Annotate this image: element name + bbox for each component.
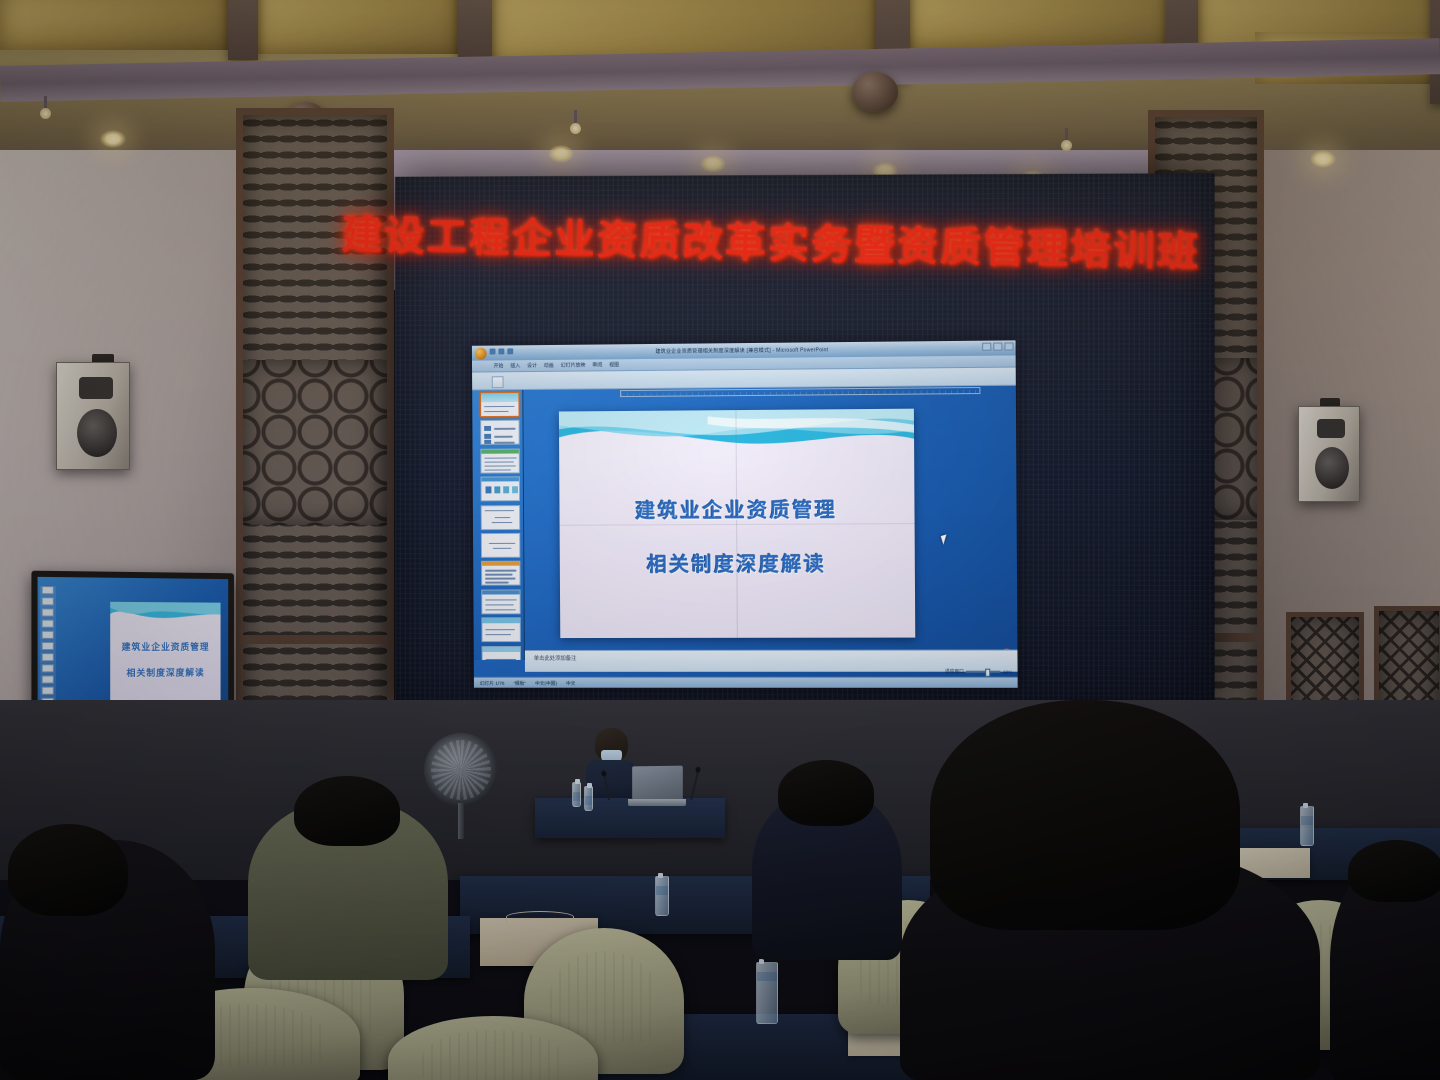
attendee-hair: [294, 776, 400, 846]
tab-slideshow[interactable]: 幻灯片放映: [561, 362, 586, 369]
led-banner-text: 建设工程企业资质改革实务暨资质管理培训班: [341, 201, 1201, 278]
tab-view[interactable]: 视图: [609, 361, 619, 368]
status-slide-count: 幻灯片 1/76: [480, 679, 505, 686]
tab-animation[interactable]: 动画: [544, 362, 554, 369]
water-bottle: [1300, 806, 1314, 846]
wall-speaker-right: [1298, 406, 1360, 502]
slide-thumbnail[interactable]: [482, 646, 521, 660]
tab-review[interactable]: 审阅: [592, 361, 602, 368]
water-bottle: [584, 786, 593, 811]
slide-thumbnail[interactable]: [480, 420, 519, 445]
slide-thumbnail[interactable]: [481, 589, 520, 614]
tab-start[interactable]: 开始: [494, 362, 504, 369]
mouse-cursor: [941, 534, 949, 544]
status-language: 中文(中国): [535, 679, 557, 686]
tab-insert[interactable]: 插入: [510, 362, 520, 369]
notes-pane[interactable]: 单击此处添加备注: [525, 650, 1018, 672]
powerpoint-window[interactable]: 建筑业企业资质管理相关制度深度解读 [兼容模式] - Microsoft Pow…: [472, 340, 1018, 687]
ceiling-downlight: [1310, 150, 1336, 168]
conference-room-photo: 建设工程企业资质改革实务暨资质管理培训班 建筑业企业资质管理相关制度深度解读 […: [0, 0, 1440, 1080]
fit-window-label[interactable]: 适应窗口: [945, 669, 964, 675]
monitor-line1: 建筑业企业资质管理: [110, 640, 220, 653]
zoom-control[interactable]: 适应窗口 66%: [945, 669, 1012, 675]
quick-access-toolbar[interactable]: [490, 348, 514, 354]
wall-speaker-left: [56, 362, 130, 470]
restore-icon[interactable]: [993, 343, 1002, 351]
notes-placeholder: 单击此处添加备注: [534, 653, 577, 661]
laptop-lid: [632, 766, 683, 801]
slide-thumbnail[interactable]: [481, 505, 520, 530]
attendee-hair: [8, 824, 128, 916]
slide-thumbnail[interactable]: [480, 448, 519, 473]
led-banner-title: 建设工程企业资质改革实务暨资质管理培训班: [420, 194, 1121, 284]
slide-thumbnail[interactable]: [481, 476, 520, 501]
attendee-hair: [930, 700, 1240, 930]
ppt-status-bar: 幻灯片 1/76 "模板" 中文(中国) 中文: [474, 677, 1018, 688]
slide-canvas[interactable]: 建筑业企业资质管理 相关制度深度解读: [559, 409, 915, 638]
status-theme: "模板": [513, 679, 526, 686]
pendant-light: [574, 110, 577, 127]
ceiling-downlight: [548, 145, 574, 163]
tab-design[interactable]: 设计: [527, 362, 537, 369]
undo-icon[interactable]: [498, 348, 504, 354]
minimize-icon[interactable]: [982, 343, 991, 351]
fan-pole: [458, 803, 464, 839]
water-bottle: [572, 782, 581, 807]
pendant-light: [44, 96, 47, 112]
ppt-workspace: 建筑业企业资质管理 相关制度深度解读 S 单击此处添加备注 幻灯片 1/76 "…: [472, 386, 1018, 688]
laptop-base: [628, 799, 686, 806]
led-video-wall: 建设工程企业资质改革实务暨资质管理培训班 建筑业企业资质管理相关制度深度解读 […: [395, 173, 1215, 712]
monitor-line2: 相关制度深度解读: [110, 666, 220, 679]
status-insert-mode: 中文: [566, 679, 576, 686]
pendant-light: [1065, 128, 1068, 144]
ceiling-downlight: [700, 155, 726, 173]
horizontal-ruler: [620, 387, 980, 397]
monitor-screen: 建筑业企业资质管理 相关制度深度解读: [38, 577, 229, 715]
slide-thumbnail[interactable]: [481, 617, 520, 642]
office-orb-icon[interactable]: [475, 347, 487, 359]
confidence-monitor: 建筑业企业资质管理 相关制度深度解读: [31, 571, 234, 722]
slide-thumbnail[interactable]: [480, 392, 519, 417]
slide-thumbnail-panel[interactable]: [472, 390, 525, 660]
lattice-panel-left-mid: [243, 360, 387, 525]
save-icon[interactable]: [490, 349, 496, 355]
ceiling-downlight: [100, 130, 126, 148]
window-controls[interactable]: [982, 342, 1013, 350]
water-bottle: [756, 962, 778, 1024]
ppt-document-title: 建筑业企业资质管理相关制度深度解读 [兼容模式] - Microsoft Pow…: [655, 346, 828, 355]
presenter-laptop: [628, 766, 684, 808]
close-icon[interactable]: [1004, 342, 1013, 350]
attendee-hair: [778, 760, 874, 826]
zoom-slider[interactable]: [966, 671, 1000, 673]
monitor-slide: 建筑业企业资质管理 相关制度深度解读: [110, 602, 220, 702]
pedestal-fan: [424, 733, 498, 837]
monitor-wave-graphic: [110, 602, 220, 628]
slide-thumbnail[interactable]: [481, 533, 520, 558]
slide-thumbnail[interactable]: [481, 561, 520, 586]
monitor-thumbnail-rail: [40, 586, 56, 704]
zoom-level-label: 66%: [1003, 669, 1012, 674]
attendee-hair: [1348, 840, 1440, 902]
slide-title-line1: 建筑业企业资质管理: [559, 493, 914, 524]
redo-icon[interactable]: [507, 348, 513, 354]
water-bottle: [655, 876, 669, 916]
slide-title-line2: 相关制度深度解读: [560, 547, 915, 577]
fan-head: [424, 733, 498, 807]
